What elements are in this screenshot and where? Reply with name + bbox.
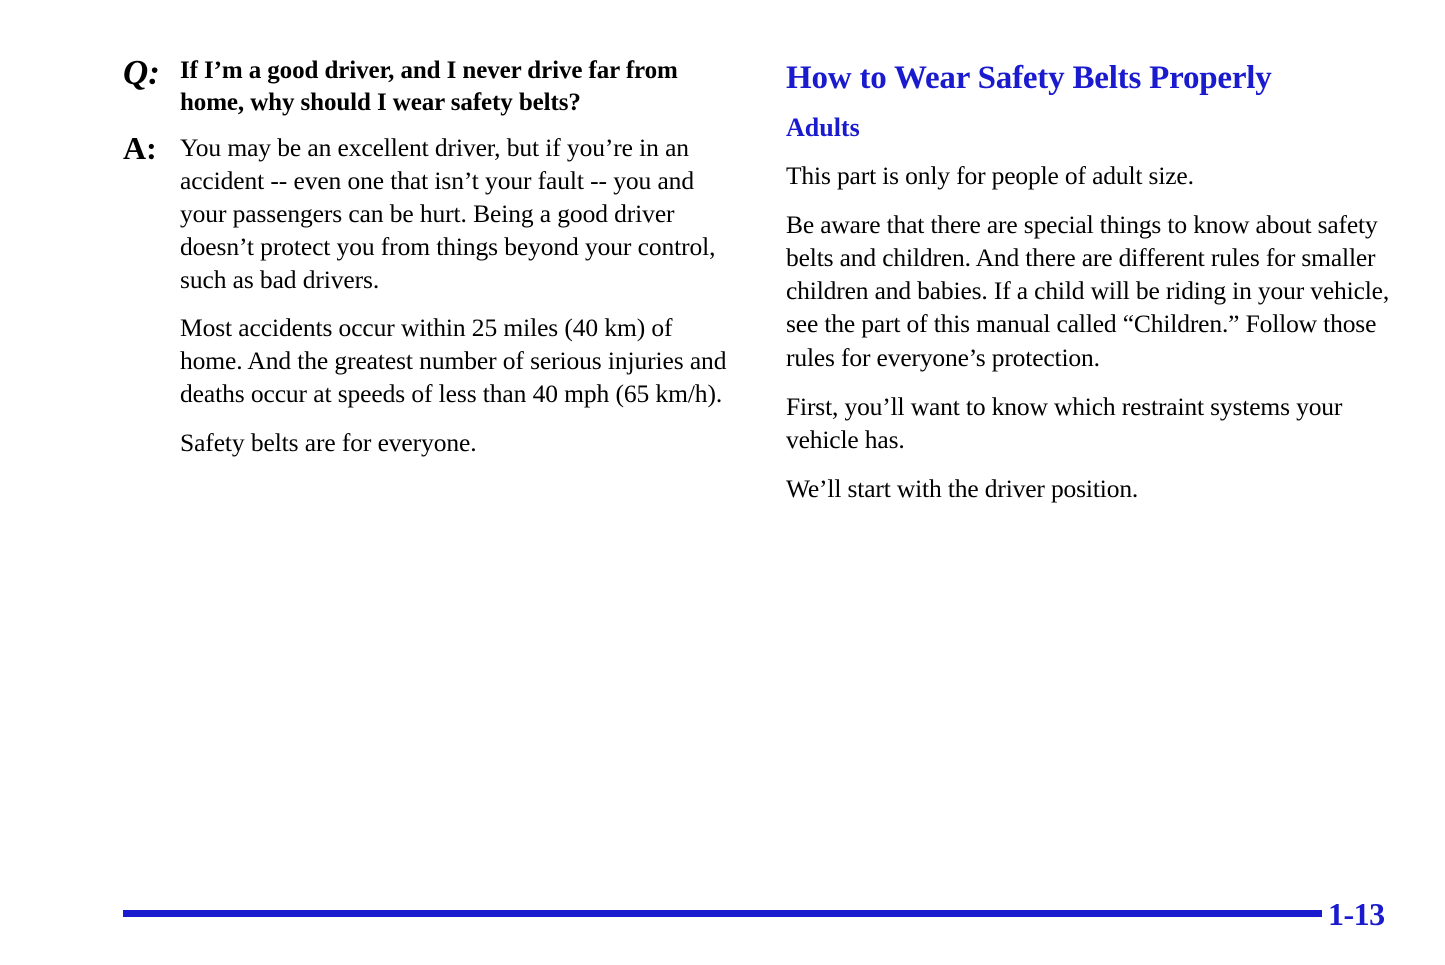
body-paragraph: We’ll start with the driver position.: [786, 472, 1394, 505]
answer-text: You may be an excellent driver, but if y…: [180, 131, 728, 459]
footer-rule: [123, 910, 1322, 917]
body-paragraph: First, you’ll want to know which restrai…: [786, 390, 1394, 456]
question-marker: Q:: [123, 55, 180, 91]
question-body: If I’m a good driver, and I never drive …: [180, 55, 728, 119]
answer-body: You may be an excellent driver, but if y…: [180, 131, 728, 459]
answer-block: A: You may be an excellent driver, but i…: [123, 131, 728, 459]
answer-paragraph: Most accidents occur within 25 miles (40…: [180, 311, 728, 410]
answer-paragraph: You may be an excellent driver, but if y…: [180, 131, 728, 297]
manual-page: Q: If I’m a good driver, and I never dri…: [0, 0, 1445, 965]
question-text: If I’m a good driver, and I never drive …: [180, 55, 728, 119]
page-number: 1-13: [1328, 898, 1385, 930]
right-column-body: This part is only for people of adult si…: [786, 159, 1394, 505]
section-subheading: Adults: [786, 114, 1394, 143]
question-block: Q: If I’m a good driver, and I never dri…: [123, 55, 728, 119]
body-paragraph: Be aware that there are special things t…: [786, 208, 1394, 374]
answer-paragraph: Safety belts are for everyone.: [180, 426, 728, 459]
answer-marker: A:: [123, 131, 180, 166]
body-paragraph: This part is only for people of adult si…: [786, 159, 1394, 192]
page-footer: 1-13: [0, 898, 1445, 958]
right-column: How to Wear Safety Belts Properly Adults…: [786, 60, 1394, 505]
section-heading: How to Wear Safety Belts Properly: [786, 60, 1394, 96]
left-column: Q: If I’m a good driver, and I never dri…: [123, 55, 728, 471]
